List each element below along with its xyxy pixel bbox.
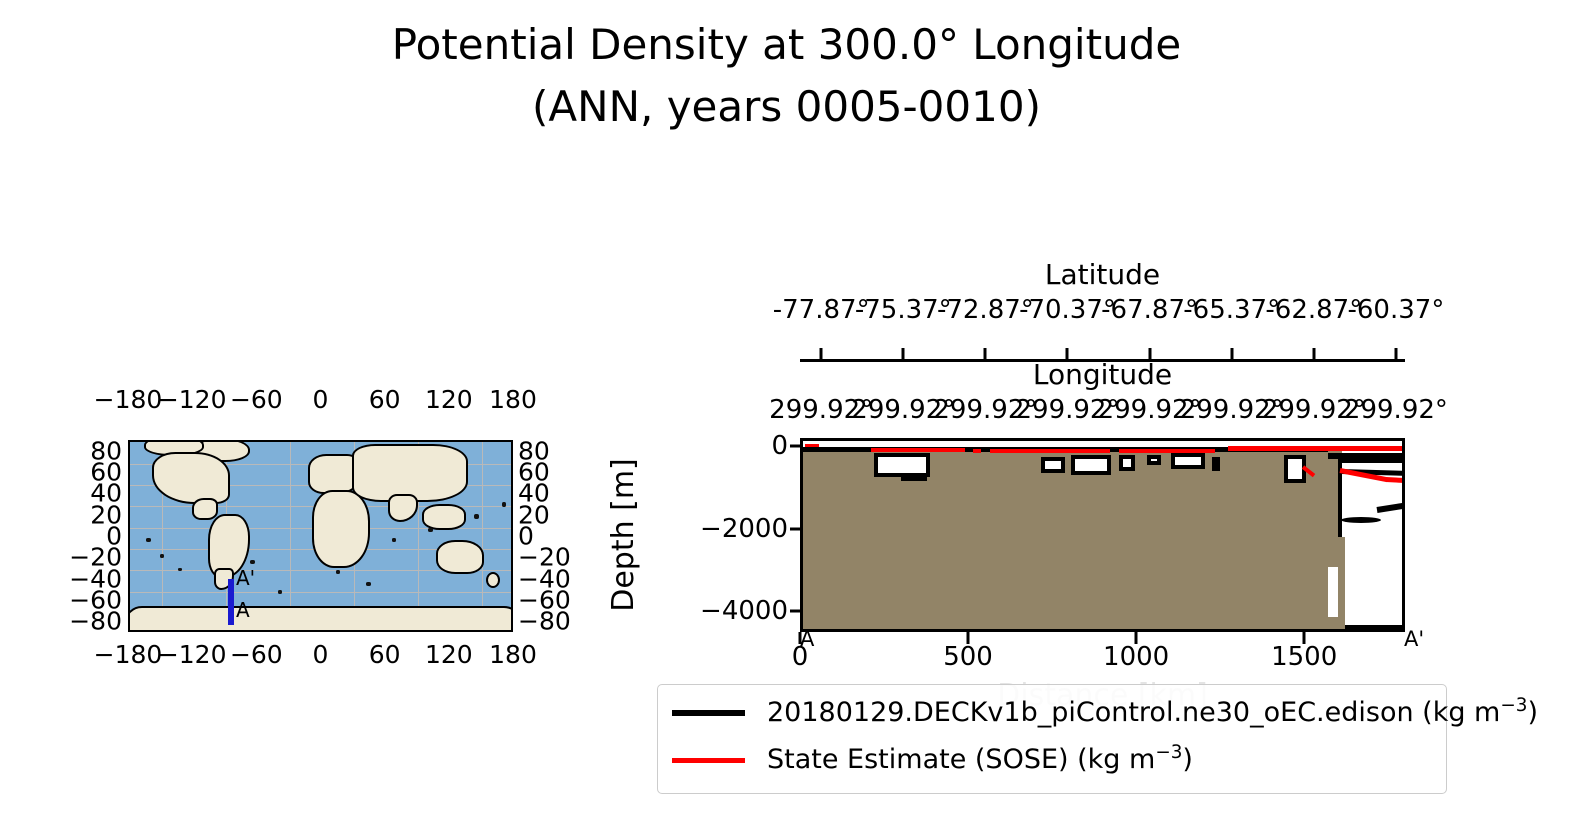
map-yaxis-left-ticklabels: 806040200−20−40−60−80 [66, 440, 122, 632]
map-xtick-label: 0 [313, 640, 329, 670]
map-xtick-label: 180 [489, 640, 537, 670]
open-ocean-interior [1338, 459, 1405, 629]
depth-axis-ticklabels: 0−2000−4000 [680, 438, 788, 632]
latitude-axis-label: Latitude [800, 258, 1405, 292]
contour-pocket [1171, 453, 1205, 469]
map-xtick-label: −120 [158, 640, 227, 670]
depth-tick-label: −4000 [680, 598, 788, 624]
obs-contour-line [805, 444, 819, 447]
obs-contour-line [973, 449, 981, 453]
legend-label-model: 20180129.DECKv1b_piControl.ne30_oEC.edis… [767, 696, 1538, 730]
map-island-speck [366, 582, 371, 586]
map-xtick-label: 0 [313, 385, 329, 415]
map-xtick-label: 120 [425, 640, 473, 670]
map-island-speck [428, 528, 433, 532]
map-xtick-label: 180 [489, 385, 537, 415]
map-island-speck [146, 538, 151, 542]
distance-axis-ticklabels: 050010001500 [800, 640, 1405, 674]
map-xtick-label: 60 [369, 640, 401, 670]
model-contour-line-deep [1341, 517, 1381, 523]
map-island-speck [278, 590, 282, 594]
legend-entry-observation[interactable]: State Estimate (SOSE) (kg m−3) [672, 740, 1193, 780]
obs-contour-line [871, 448, 965, 452]
contour-pocket [1212, 457, 1220, 471]
map-ytick-label: −80 [66, 609, 122, 634]
longitude-ticklabels: 299.92°299.92°299.92°299.92°299.92°299.9… [800, 393, 1405, 427]
map-land-southeast-asia [422, 504, 466, 530]
page-title: Potential Density at 300.0° Longitude (A… [0, 14, 1573, 138]
model-contour-line [1328, 453, 1405, 459]
legend-label-model-exponent: −3 [1500, 695, 1527, 716]
map-gridline-horizontal [130, 592, 511, 593]
legend-label-model-suffix: ) [1527, 697, 1538, 728]
map-xtick-label: −180 [94, 640, 163, 670]
legend-label-obs-exponent: −3 [1155, 742, 1182, 763]
map-xtick-label: −120 [158, 385, 227, 415]
map-ytick-label: −80 [518, 609, 574, 634]
depth-tick-label: −2000 [680, 516, 788, 542]
map-island-speck [160, 554, 164, 558]
longitude-axis-label: Longitude [800, 358, 1405, 392]
contour-pocket [1041, 457, 1065, 473]
map-land-antarctica [128, 606, 513, 632]
legend-label-obs: State Estimate (SOSE) (kg m−3) [767, 743, 1193, 777]
obs-contour-line [990, 449, 1110, 453]
map-xtick-label: 120 [425, 385, 473, 415]
contour-pocket [901, 473, 927, 481]
transect-line-marker[interactable] [228, 579, 234, 625]
map-land-new-zealand [486, 572, 500, 588]
legend-label-model-prefix: 20180129.DECKv1b_piControl.ne30_oEC.edis… [767, 697, 1500, 728]
legend[interactable]: 20180129.DECKv1b_piControl.ne30_oEC.edis… [657, 684, 1447, 794]
map-yaxis-right-ticklabels: 806040200−20−40−60−80 [518, 440, 574, 632]
distance-tick-label: 1000 [1103, 640, 1169, 674]
bathymetry-fill-sill [1338, 537, 1345, 629]
map-xtick-label: −180 [94, 385, 163, 415]
contour-pocket [1119, 455, 1135, 471]
transect-end-label-map: A' [236, 568, 255, 588]
transect-start-label-map: A [236, 600, 250, 620]
latitude-ticklabels: -77.87°-75.37°-72.87°-70.37°-67.87°-65.3… [800, 293, 1405, 327]
latitude-ticklabels-item: -60.37° [1348, 293, 1445, 327]
transect-cross-section-panel: Latitude -77.87°-75.37°-72.87°-70.37°-67… [640, 255, 1540, 675]
inset-locator-map-panel: −180−120−60060120180 [40, 385, 540, 675]
transect-end-label-plot: A' [1404, 629, 1424, 650]
map-xaxis-bottom-ticklabels: −180−120−60060120180 [128, 640, 513, 670]
transect-plot-area[interactable] [800, 438, 1405, 632]
map-island-speck [502, 502, 506, 507]
distance-tick-label: 1500 [1271, 640, 1337, 674]
map-land-africa [312, 490, 370, 568]
map-land-central-america [192, 498, 218, 520]
contour-pocket [1071, 455, 1111, 475]
obs-contour-line [1228, 446, 1405, 451]
map-land-north-america [152, 452, 230, 504]
map-xtick-label: −60 [230, 640, 283, 670]
map-land-india [388, 494, 418, 522]
legend-swatch-model-icon [672, 710, 745, 716]
world-map-axes[interactable]: A' A [128, 440, 513, 632]
map-gridline-vertical [482, 442, 483, 630]
legend-label-obs-suffix: ) [1182, 744, 1193, 775]
map-xtick-label: −60 [230, 385, 283, 415]
map-land-australia [436, 540, 484, 574]
map-island-speck [392, 538, 396, 542]
map-xtick-label: 60 [369, 385, 401, 415]
map-island-speck [250, 560, 255, 564]
depth-axis-label: Depth [m] [602, 438, 646, 632]
map-island-speck [474, 514, 479, 519]
transect-start-label-plot: A [800, 629, 814, 650]
distance-tick-label: 500 [943, 640, 993, 674]
legend-swatch-obs-icon [672, 758, 745, 763]
contour-pocket [1147, 455, 1161, 465]
map-xaxis-top-ticklabels: −180−120−60060120180 [128, 385, 513, 415]
legend-label-obs-prefix: State Estimate (SOSE) (kg m [767, 744, 1155, 775]
legend-entry-model[interactable]: 20180129.DECKv1b_piControl.ne30_oEC.edis… [672, 693, 1538, 733]
map-gridline-vertical [290, 442, 291, 630]
depth-tick-label: 0 [680, 433, 788, 459]
map-island-speck [336, 570, 340, 574]
longitude-ticklabels-item: 299.92° [1344, 393, 1448, 427]
obs-contour-line [1119, 449, 1215, 453]
map-island-speck [178, 568, 182, 571]
